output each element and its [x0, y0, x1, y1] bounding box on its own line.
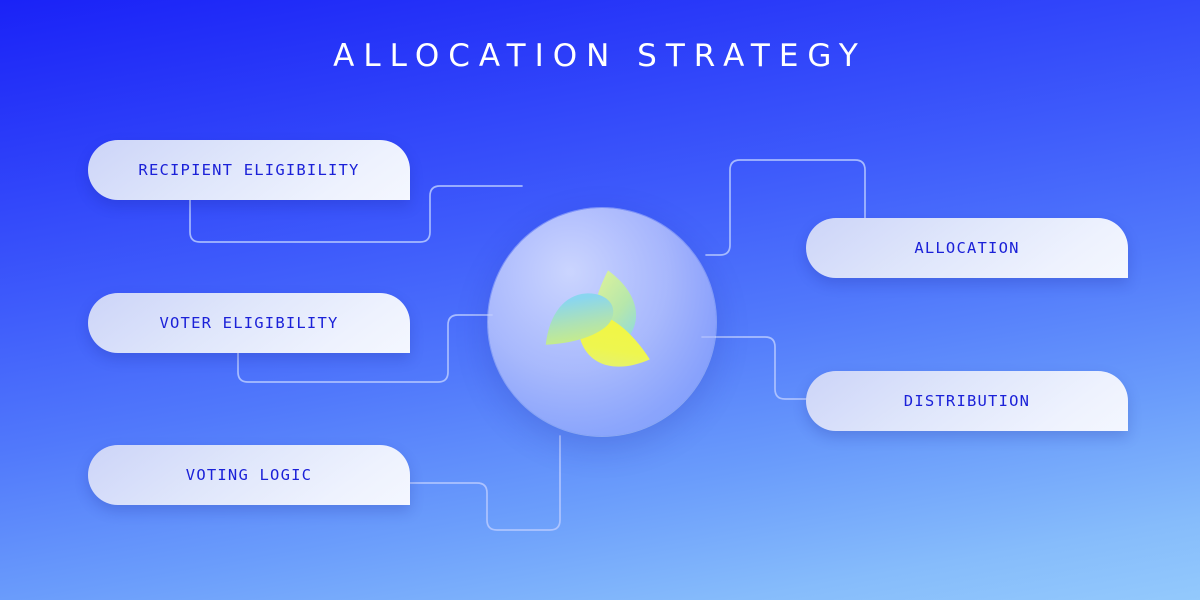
card-recipient-eligibility-label: RECIPIENT ELIGIBILITY [138, 161, 359, 179]
trefoil-leaves-logo-icon [537, 257, 667, 387]
card-distribution[interactable]: DISTRIBUTION [806, 371, 1128, 431]
card-voter-eligibility-label: VOTER ELIGIBILITY [159, 314, 338, 332]
card-recipient-eligibility[interactable]: RECIPIENT ELIGIBILITY [88, 140, 410, 200]
card-distribution-label: DISTRIBUTION [904, 392, 1030, 410]
card-allocation-label: ALLOCATION [914, 239, 1019, 257]
card-allocation[interactable]: ALLOCATION [806, 218, 1128, 278]
connector-hub-to-distribution [702, 337, 806, 399]
page-title: ALLOCATION STRATEGY [0, 38, 1200, 74]
card-voting-logic-label: VOTING LOGIC [186, 466, 312, 484]
allocation-strategy-diagram: ALLOCATION STRATEGY RECIPIENT ELIGIBILIT… [0, 0, 1200, 600]
connector-voting-logic-to-hub [410, 436, 560, 530]
center-hub-circle [488, 208, 716, 436]
card-voting-logic[interactable]: VOTING LOGIC [88, 445, 410, 505]
card-voter-eligibility[interactable]: VOTER ELIGIBILITY [88, 293, 410, 353]
